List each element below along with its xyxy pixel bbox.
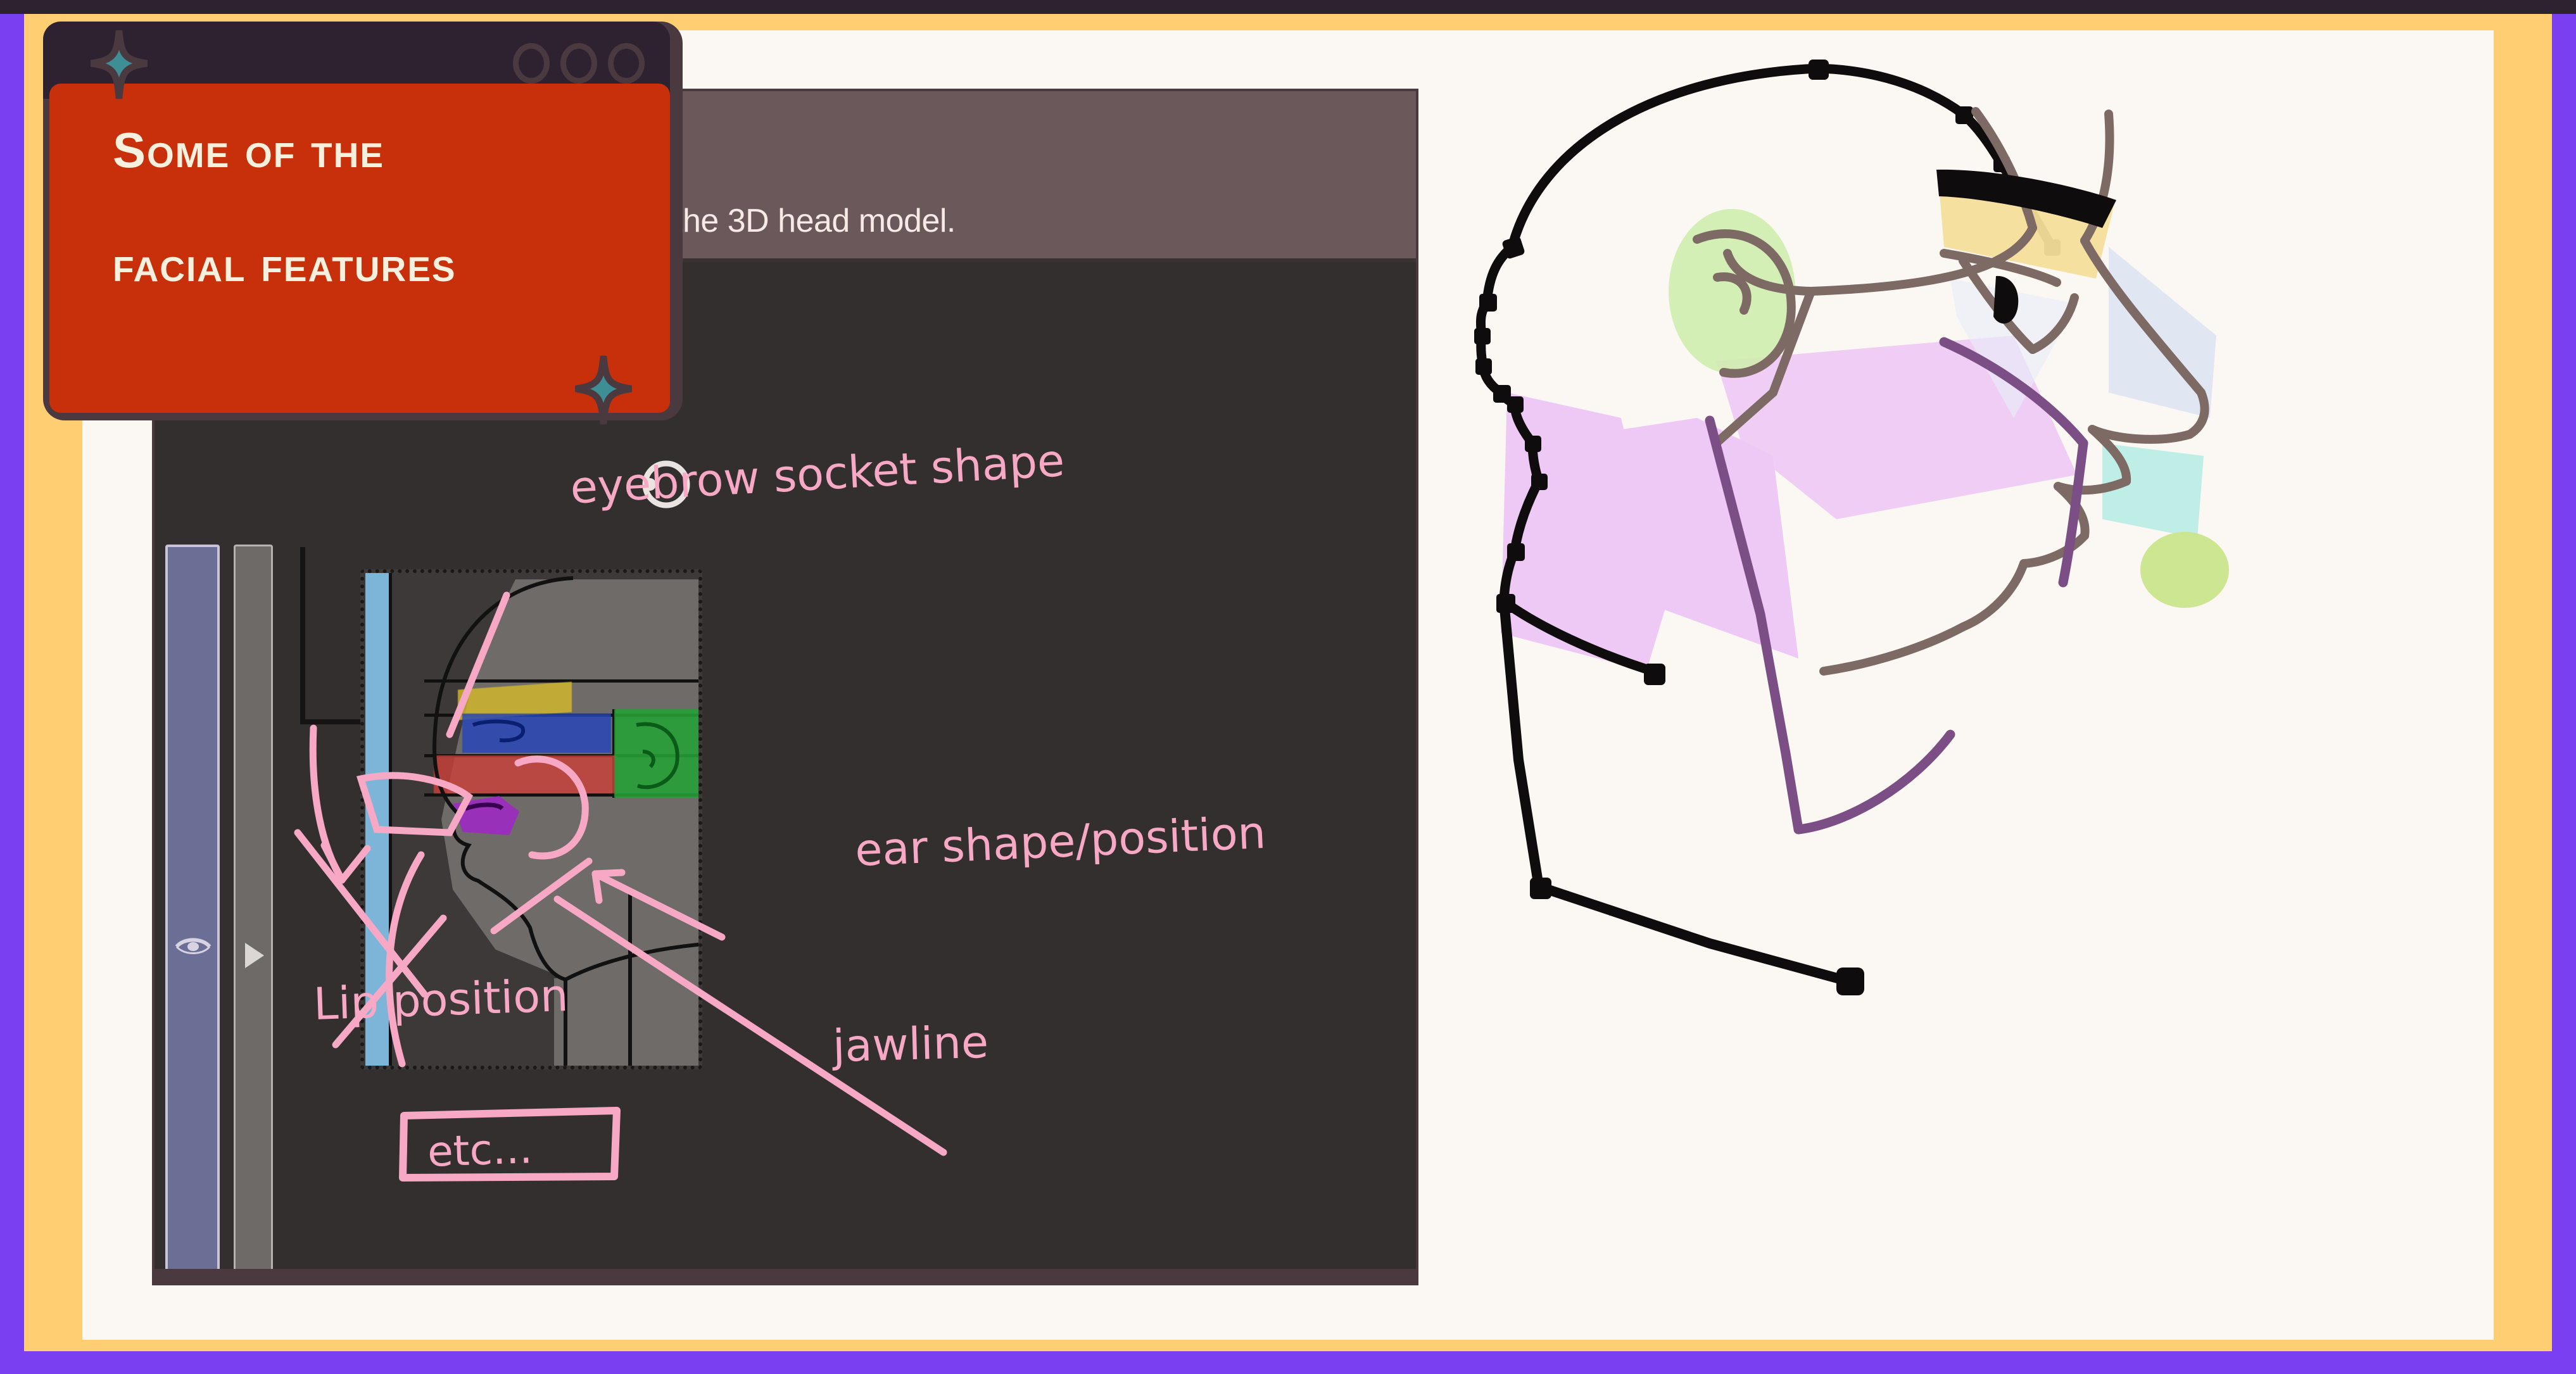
maximize-dot-icon[interactable] — [560, 43, 597, 84]
play-triangle-icon[interactable] — [245, 943, 264, 968]
app-header-title: the 3D head model. — [674, 202, 956, 240]
visibility-rail[interactable] — [165, 545, 220, 1285]
sparkle-icon — [89, 28, 149, 101]
overlay-card-line1: Some of the — [113, 122, 384, 179]
overlay-card-line2: facial features — [113, 236, 457, 293]
jawline-label: jawline — [832, 1016, 989, 1072]
playback-rail[interactable] — [234, 545, 273, 1285]
chin-highlight — [2140, 532, 2229, 608]
close-dot-icon[interactable] — [608, 43, 645, 84]
app-window-bottom-strip — [155, 1269, 1416, 1283]
top-dark-bar — [0, 0, 2576, 14]
etc-label: etc... — [427, 1124, 533, 1176]
minimize-dot-icon[interactable] — [513, 43, 550, 84]
cream-canvas: the 3D head model. — [82, 30, 2494, 1340]
eye-icon[interactable] — [175, 936, 212, 957]
head-profile-sketch — [1444, 38, 2482, 1279]
eye-iris — [1993, 276, 2018, 324]
lip-position-label: Lip position — [313, 969, 569, 1030]
sparkle-icon — [573, 353, 634, 427]
